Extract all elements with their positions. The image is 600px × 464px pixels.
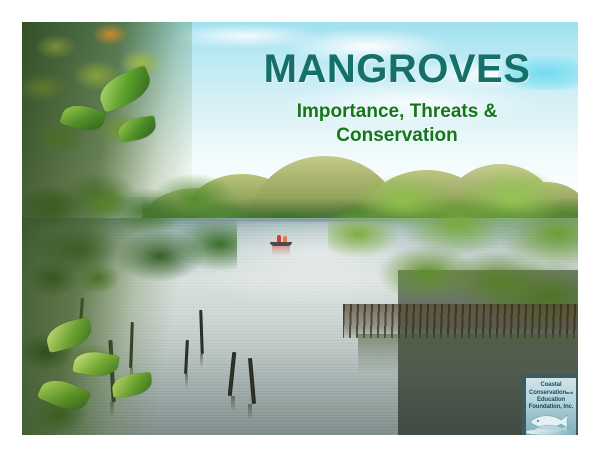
logo-text-block: Coastal Conservationand Education Founda… [526,382,576,411]
foreground-leaf-4 [44,317,95,353]
foreground-leaf-3 [117,115,158,142]
logo-line-1: Coastal [526,382,576,389]
foreground-mangrove-foliage [22,22,192,435]
logo-line-3: Education [526,397,576,404]
water-stake-6-reflection [248,404,252,420]
title-slide-photo: MANGROVES Importance, Threats & Conserva… [22,22,578,435]
foreground-leaf-6 [111,372,153,398]
boat-reflection [272,246,290,256]
logo-inner-panel: Coastal Conservationand Education Founda… [526,378,576,435]
subtitle-line-1: Importance, Threats & [212,100,578,124]
logo-line-2: Conservation [529,390,566,396]
water-stake-4-reflection [200,354,203,368]
right-bank-reflection [358,334,578,374]
foreground-leaf-7 [37,373,91,416]
logo-wave [526,429,576,435]
right-bank-prop-roots [343,304,578,338]
presentation-slide: MANGROVES Importance, Threats & Conserva… [0,0,600,464]
logo-line-2-wrap: Conservationand [526,389,576,397]
foreground-leaf-2 [59,100,106,136]
foreground-leaf-large [94,65,155,113]
page-title: MANGROVES [212,48,578,90]
page-subtitle: Importance, Threats & Conservation [212,100,578,148]
logo-line-2-small: and [566,390,573,395]
foreground-leaf-5 [72,348,119,379]
organization-logo: Coastal Conservationand Education Founda… [522,374,578,435]
water-stake-5-reflection [231,396,235,412]
small-boat-with-people [270,234,292,246]
subtitle-line-2: Conservation [212,124,578,148]
